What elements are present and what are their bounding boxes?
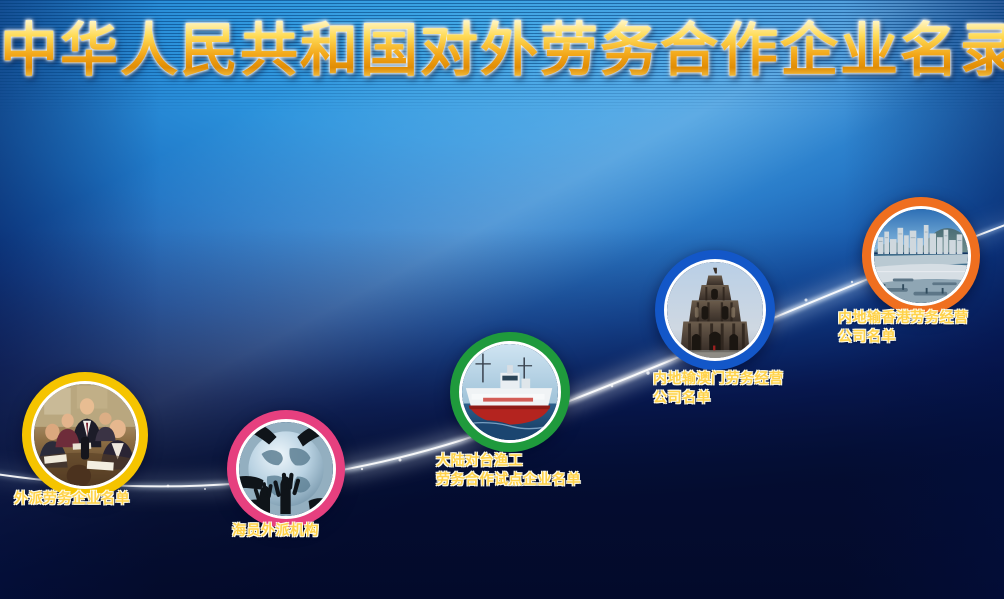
node-label-waipai-laowu: 外派劳务企业名单 [14,490,130,509]
node-haiyuan-waipai[interactable]: 海员外派机构 [227,410,345,528]
node-ring-neidi-aomen[interactable] [655,250,775,370]
hands-around-globe-photo [239,422,333,516]
node-duitai-yugong[interactable]: 大陆对台渔工 劳务合作试点企业名单 [450,332,570,452]
node-ring-waipai-laowu[interactable] [22,372,148,498]
node-ring-neidi-xianggang[interactable] [862,197,980,315]
fishing-vessel-photo [462,344,558,440]
node-ring-duitai-yugong[interactable] [450,332,570,452]
hong-kong-harbour-photo [874,209,968,303]
node-ring-haiyuan-waipai[interactable] [227,410,345,528]
page-title-block: 中华人民共和国对外劳务合作企业名录 中华人民共和国对外劳务合作企业名录 [0,0,1004,110]
node-waipai-laowu[interactable]: 外派劳务企业名单 [22,372,148,498]
node-neidi-aomen[interactable]: 内地输澳门劳务经营 公司名单 [655,250,775,370]
page-title: 中华人民共和国对外劳务合作企业名录 [0,20,1004,81]
node-neidi-xianggang[interactable]: 内地输香港劳务经营 公司名单 [862,197,980,315]
business-meeting-photo [34,384,136,486]
node-label-duitai-yugong: 大陆对台渔工 劳务合作试点企业名单 [436,452,581,490]
node-label-haiyuan-waipai: 海员外派机构 [232,522,319,541]
node-label-neidi-xianggang: 内地输香港劳务经营 公司名单 [838,309,969,347]
macau-ruins-of-st-pauls-photo [667,262,763,358]
node-label-neidi-aomen: 内地输澳门劳务经营 公司名单 [653,370,784,408]
poster-canvas: 中华人民共和国对外劳务合作企业名录 中华人民共和国对外劳务合作企业名录 [0,0,1004,599]
